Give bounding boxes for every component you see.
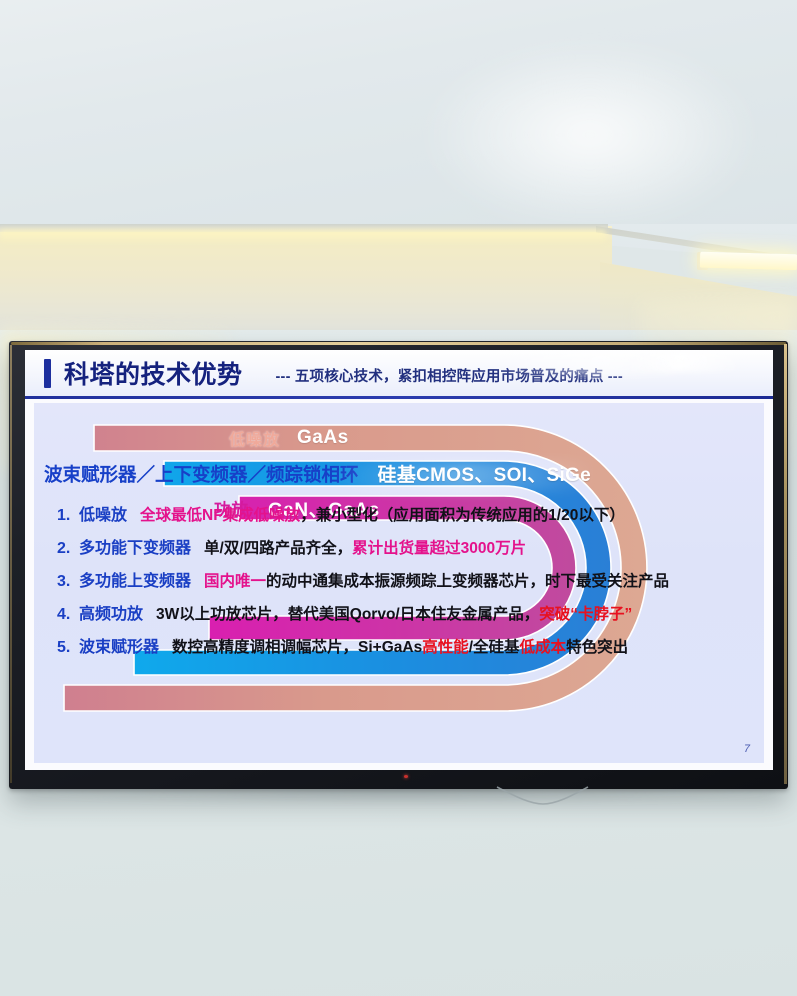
list-item-key: 多功能上变频器: [79, 565, 191, 598]
ceiling-light-fixture: [700, 252, 797, 271]
list-item-number: 5.: [57, 631, 79, 664]
list-item: 1. 低噪放 全球最低NF集成低噪放 ，兼小型化（应用面积为传统应用的1/20以…: [57, 499, 747, 532]
television: 科塔的技术优势 --- 五项核心技术，紧扣相控阵应用市场普及的痛点 ---: [9, 341, 788, 789]
page-subtitle: --- 五项核心技术，紧扣相控阵应用市场普及的痛点 ---: [276, 365, 623, 386]
list-item-text: 高性能: [422, 631, 469, 664]
band-label-inside-beamformer: 硅基CMOS、SOI、SiGe: [378, 460, 592, 487]
list-item-text: 低成本: [520, 631, 567, 664]
ceiling-glow: [420, 40, 760, 230]
list-item-text: 突破“卡脖子”: [539, 598, 632, 631]
band-label-beamformer: 波束赋形器／上下变频器／频踪锁相环 硅基CMOS、SOI、SiGe: [44, 461, 591, 486]
header-accent-bar: [44, 359, 51, 388]
list-item: 5. 波束赋形器 数控高精度调相调幅芯片，Si+GaAs 高性能 /全硅基 低成…: [57, 631, 747, 664]
tv-bezel-top-trim: [11, 342, 786, 345]
advantage-list: 1. 低噪放 全球最低NF集成低噪放 ，兼小型化（应用面积为传统应用的1/20以…: [57, 499, 747, 664]
band-label-inside-lna: GaAs: [297, 427, 349, 449]
band-label-low-noise-amplifier: 低噪放 GaAs: [229, 425, 349, 451]
list-item-text: 特色突出: [566, 631, 628, 664]
tv-drop-shadow: [20, 789, 780, 803]
band-label-outside-lna: 低噪放: [229, 426, 280, 450]
page-title: 科塔的技术优势: [64, 355, 243, 391]
list-item-number: 4.: [57, 598, 79, 631]
cove-light-strip: [0, 230, 606, 244]
list-item-text: 3W以上功放芯片，替代美国Qorvo/日本住友金属产品，: [156, 598, 539, 631]
list-item-text: ，兼小型化（应用面积为传统应用的1/20以下）: [300, 499, 625, 532]
header-divider: [25, 396, 773, 399]
list-item-text: 累计出货量超过3000万片: [352, 532, 526, 565]
tv-bezel-right-trim: [784, 344, 787, 784]
list-item-number: 2.: [57, 532, 79, 565]
page-number: 7: [744, 743, 750, 755]
band-label-outside-beamformer: 波束赋形器／上下变频器／频踪锁相环: [44, 461, 359, 487]
list-item-text: 国内唯一: [204, 565, 266, 598]
screen-reflection-header: [625, 352, 745, 372]
list-item: 4. 高频功放 3W以上功放芯片，替代美国Qorvo/日本住友金属产品， 突破“…: [57, 598, 747, 631]
list-item-key: 高频功放: [79, 598, 143, 631]
tv-power-led: [404, 775, 408, 778]
list-item-text: /全硅基: [469, 631, 520, 664]
list-item-key: 多功能下变频器: [79, 532, 191, 565]
list-item-text: 全球最低NF集成低噪放: [140, 499, 300, 532]
list-item-number: 1.: [57, 499, 79, 532]
slide-body: 低噪放 GaAs 波束赋形器／上下变频器／频踪锁相环 硅基CMOS、SOI、Si…: [34, 403, 764, 763]
list-item-text: 单/双/四路产品齐全，: [204, 532, 352, 565]
list-item-key: 低噪放: [79, 499, 127, 532]
tv-screen[interactable]: 科塔的技术优势 --- 五项核心技术，紧扣相控阵应用市场普及的痛点 ---: [25, 350, 773, 770]
list-item-number: 3.: [57, 565, 79, 598]
band-label-group: 低噪放 GaAs 波束赋形器／上下变频器／频踪锁相环 硅基CMOS、SOI、Si…: [34, 403, 764, 489]
list-item-text: 数控高精度调相调幅芯片，Si+GaAs: [172, 631, 422, 664]
tv-power-cable: [495, 786, 590, 808]
list-item: 2. 多功能下变频器 单/双/四路产品齐全， 累计出货量超过3000万片: [57, 532, 747, 565]
list-item-key: 波束赋形器: [79, 631, 159, 664]
tv-bezel-left-trim: [10, 345, 12, 783]
list-item-text: 的动中通集成本振源频踪上变频器芯片，时下最受关注产品: [266, 565, 669, 598]
list-item: 3. 多功能上变频器 国内唯一 的动中通集成本振源频踪上变频器芯片，时下最受关注…: [57, 565, 747, 598]
slide-header: 科塔的技术优势 --- 五项核心技术，紧扣相控阵应用市场普及的痛点 ---: [25, 350, 773, 396]
presentation-slide: 科塔的技术优势 --- 五项核心技术，紧扣相控阵应用市场普及的痛点 ---: [25, 350, 773, 770]
